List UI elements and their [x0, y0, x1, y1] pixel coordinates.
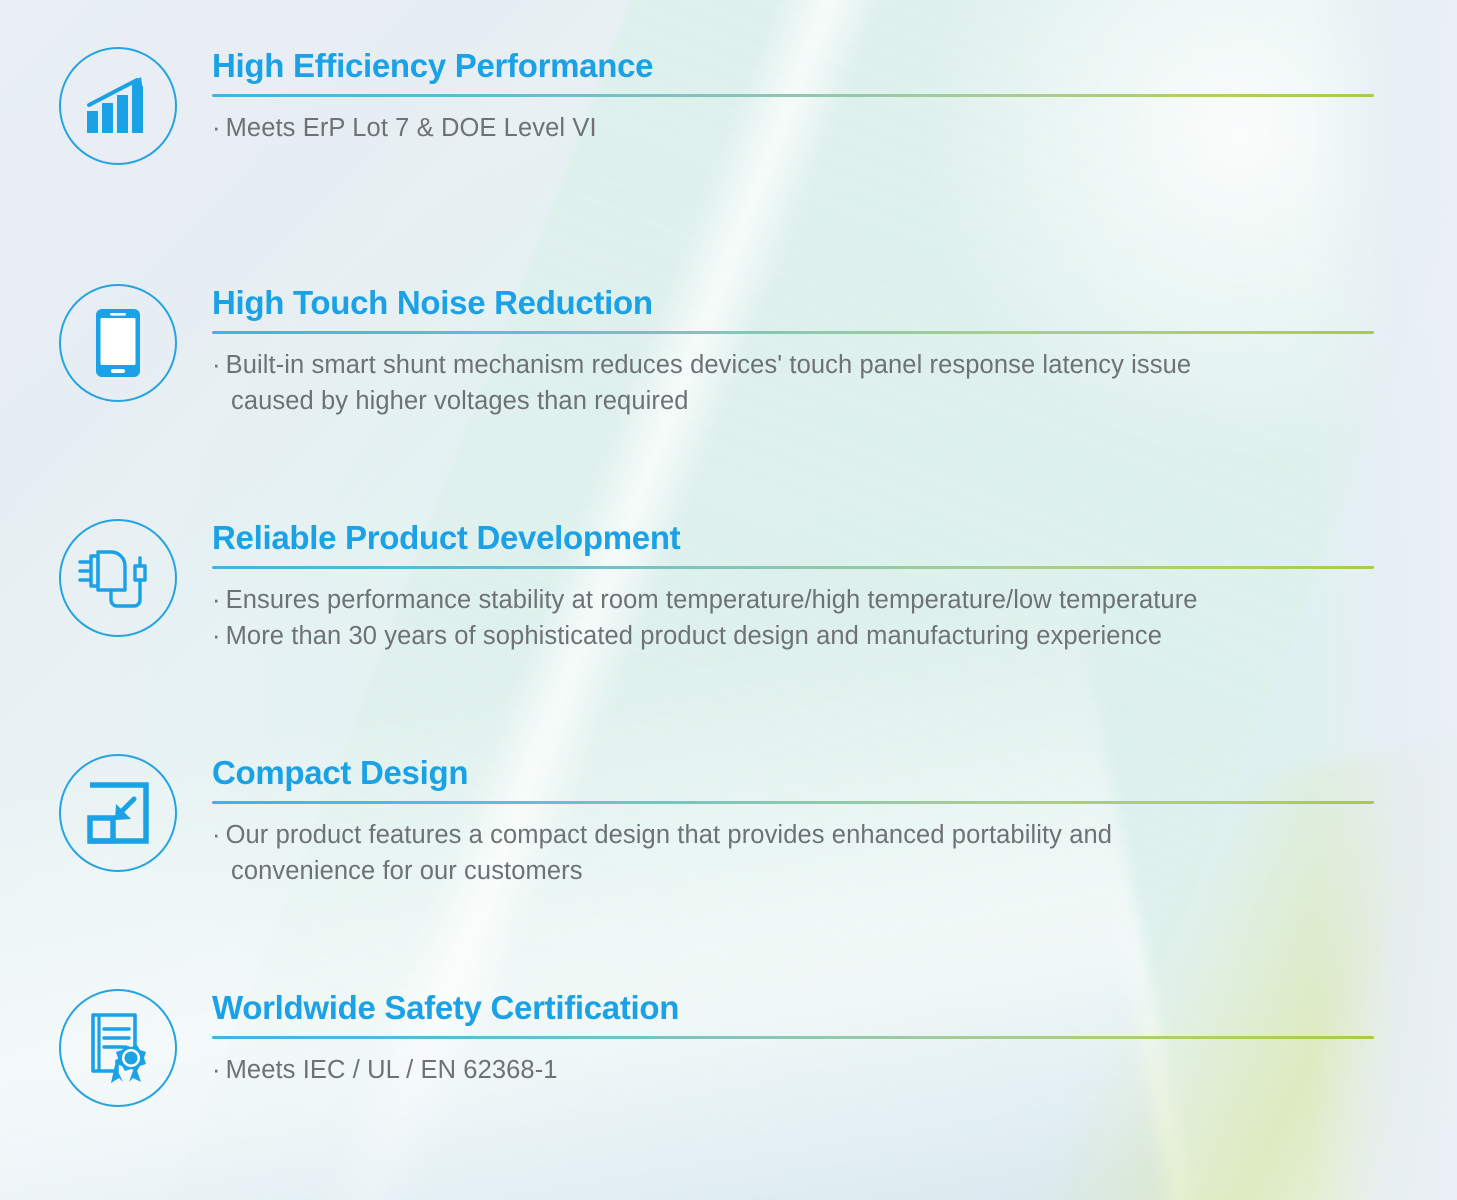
feature-body: High Efficiency Performance ·Meets ErP L… — [212, 44, 1377, 146]
feature-item-reliable-product-development: Reliable Product Development ·Ensures pe… — [0, 516, 1457, 654]
feature-icon-wrap — [56, 751, 180, 875]
feature-lines: ·Our product features a compact design t… — [212, 817, 1377, 889]
feature-line-text: More than 30 years of sophisticated prod… — [226, 622, 1162, 650]
bullet-icon: · — [212, 1056, 221, 1084]
feature-item-high-efficiency-performance: High Efficiency Performance ·Meets ErP L… — [0, 44, 1457, 168]
feature-lines: ·Meets ErP Lot 7 & DOE Level VI — [212, 110, 1377, 146]
bullet-icon: · — [212, 351, 221, 379]
feature-line: ·Built-in smart shunt mechanism reduces … — [212, 347, 1377, 383]
bar-chart-growth-icon — [59, 47, 177, 165]
feature-body: Worldwide Safety Certification ·Meets IE… — [212, 986, 1377, 1088]
feature-item-worldwide-safety-certification: Worldwide Safety Certification ·Meets IE… — [0, 986, 1457, 1110]
feature-title: Compact Design — [212, 755, 1377, 792]
feature-item-compact-design: Compact Design ·Our product features a c… — [0, 751, 1457, 889]
feature-divider — [212, 566, 1374, 569]
feature-title: High Touch Noise Reduction — [212, 285, 1377, 322]
feature-lines: ·Ensures performance stability at room t… — [212, 582, 1377, 654]
bullet-icon: · — [212, 622, 221, 650]
feature-icon-wrap — [56, 44, 180, 168]
feature-icon-wrap — [56, 281, 180, 405]
certificate-award-icon — [59, 989, 177, 1107]
feature-item-high-touch-noise-reduction: High Touch Noise Reduction ·Built-in sma… — [0, 281, 1457, 419]
feature-title: Reliable Product Development — [212, 520, 1377, 557]
feature-icon-wrap — [56, 986, 180, 1110]
feature-line-text: Meets ErP Lot 7 & DOE Level VI — [226, 114, 597, 142]
power-adapter-icon — [59, 519, 177, 637]
feature-line-text: Ensures performance stability at room te… — [226, 586, 1198, 614]
feature-line-text: Meets IEC / UL / EN 62368-1 — [226, 1056, 558, 1084]
feature-line-text: Built-in smart shunt mechanism reduces d… — [226, 351, 1192, 379]
feature-body: High Touch Noise Reduction ·Built-in sma… — [212, 281, 1377, 419]
feature-lines: ·Built-in smart shunt mechanism reduces … — [212, 347, 1377, 419]
feature-body: Reliable Product Development ·Ensures pe… — [212, 516, 1377, 654]
feature-line: ·Meets ErP Lot 7 & DOE Level VI — [212, 110, 1377, 146]
feature-line: caused by higher voltages than required — [212, 383, 1377, 419]
feature-divider — [212, 801, 1374, 804]
feature-divider — [212, 94, 1374, 97]
feature-body: Compact Design ·Our product features a c… — [212, 751, 1377, 889]
feature-list-page: High Efficiency Performance ·Meets ErP L… — [0, 0, 1457, 1200]
feature-title: High Efficiency Performance — [212, 48, 1377, 85]
bullet-icon: · — [212, 586, 221, 614]
feature-title: Worldwide Safety Certification — [212, 990, 1377, 1027]
smartphone-icon — [59, 284, 177, 402]
feature-line: ·Meets IEC / UL / EN 62368-1 — [212, 1052, 1377, 1088]
bullet-icon: · — [212, 821, 221, 849]
feature-lines: ·Meets IEC / UL / EN 62368-1 — [212, 1052, 1377, 1088]
feature-line: ·Our product features a compact design t… — [212, 817, 1377, 853]
feature-line-text: Our product features a compact design th… — [226, 821, 1112, 849]
bullet-icon: · — [212, 114, 221, 142]
compress-resize-icon — [59, 754, 177, 872]
feature-divider — [212, 331, 1374, 334]
feature-line-text: caused by higher voltages than required — [231, 387, 689, 415]
feature-icon-wrap — [56, 516, 180, 640]
feature-line-text: convenience for our customers — [231, 857, 583, 885]
feature-line: convenience for our customers — [212, 853, 1377, 889]
feature-line: ·Ensures performance stability at room t… — [212, 582, 1377, 618]
feature-line: ·More than 30 years of sophisticated pro… — [212, 618, 1377, 654]
feature-divider — [212, 1036, 1374, 1039]
